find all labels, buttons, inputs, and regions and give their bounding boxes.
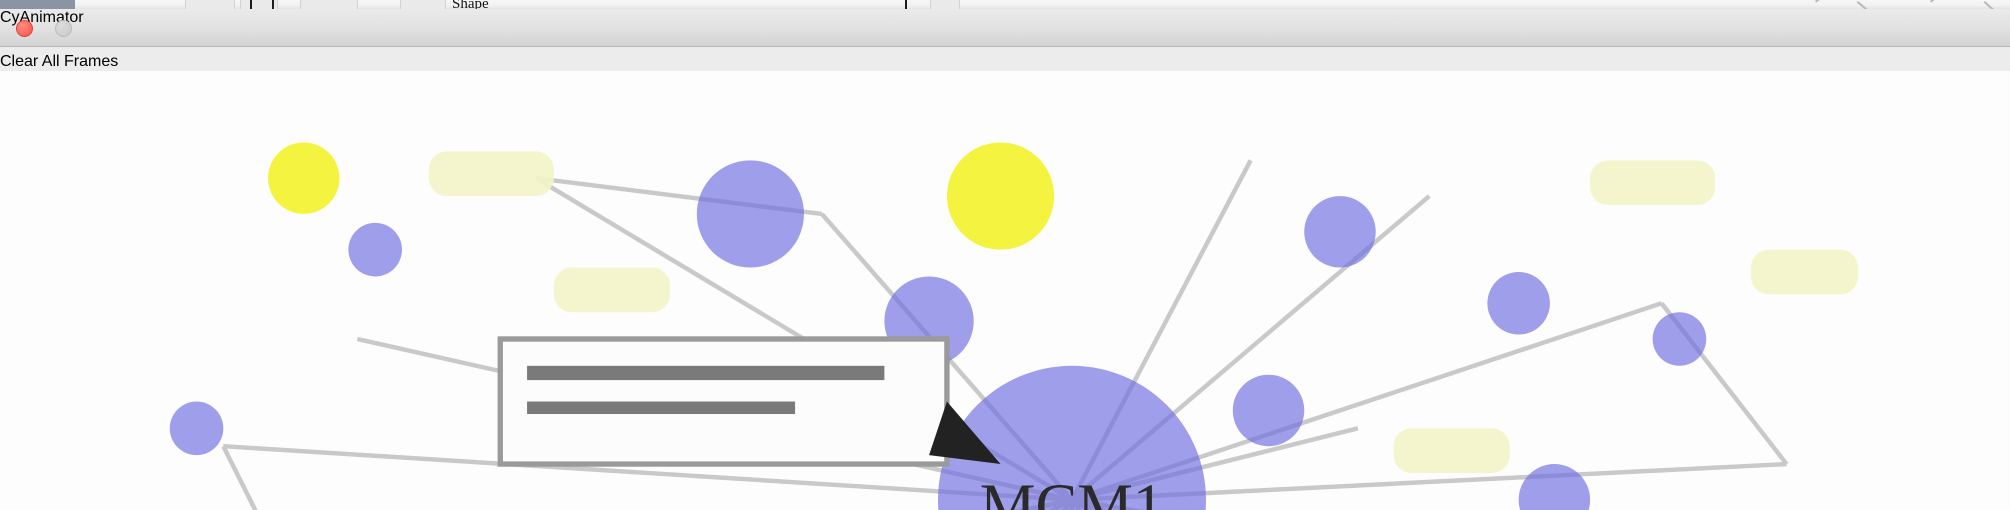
background-toolbar-segment [930,0,960,9]
window-title: CyAnimator [0,9,2010,27]
timeline-panel[interactable]: MCM1 [0,71,2010,510]
background-titlebar-fragment [0,0,75,9]
background-chart-line [1815,0,1840,7]
background-tick [272,0,274,9]
close-button[interactable] [16,20,33,37]
background-toolbar-segment [300,0,358,9]
clear-all-frames-button[interactable]: Clear All Frames [0,53,2010,71]
minimize-button[interactable] [55,20,72,37]
background-toolbar-segment [400,0,446,9]
maximize-button[interactable] [0,20,17,37]
background-window-strip: Shape [0,0,2010,9]
background-toolbar-segment [185,0,235,9]
background-chart-line [1853,1,1878,9]
background-chart-line [1930,0,1955,7]
cyanimator-window: Shape CyAnimator + Clear All Frames [0,0,2010,510]
clear-all-frames-label: Clear All Frames [0,53,118,70]
svg-text:MCM1: MCM1 [980,471,1164,510]
titlebar: CyAnimator [0,9,2010,47]
background-tick [905,0,907,9]
background-window-label: Shape [452,0,489,9]
frame-thumbnail[interactable]: MCM1 [0,71,2010,510]
background-chart-line [1980,1,2005,9]
network-thumbnail-image: MCM1 [0,71,2010,510]
background-tick [250,0,252,9]
